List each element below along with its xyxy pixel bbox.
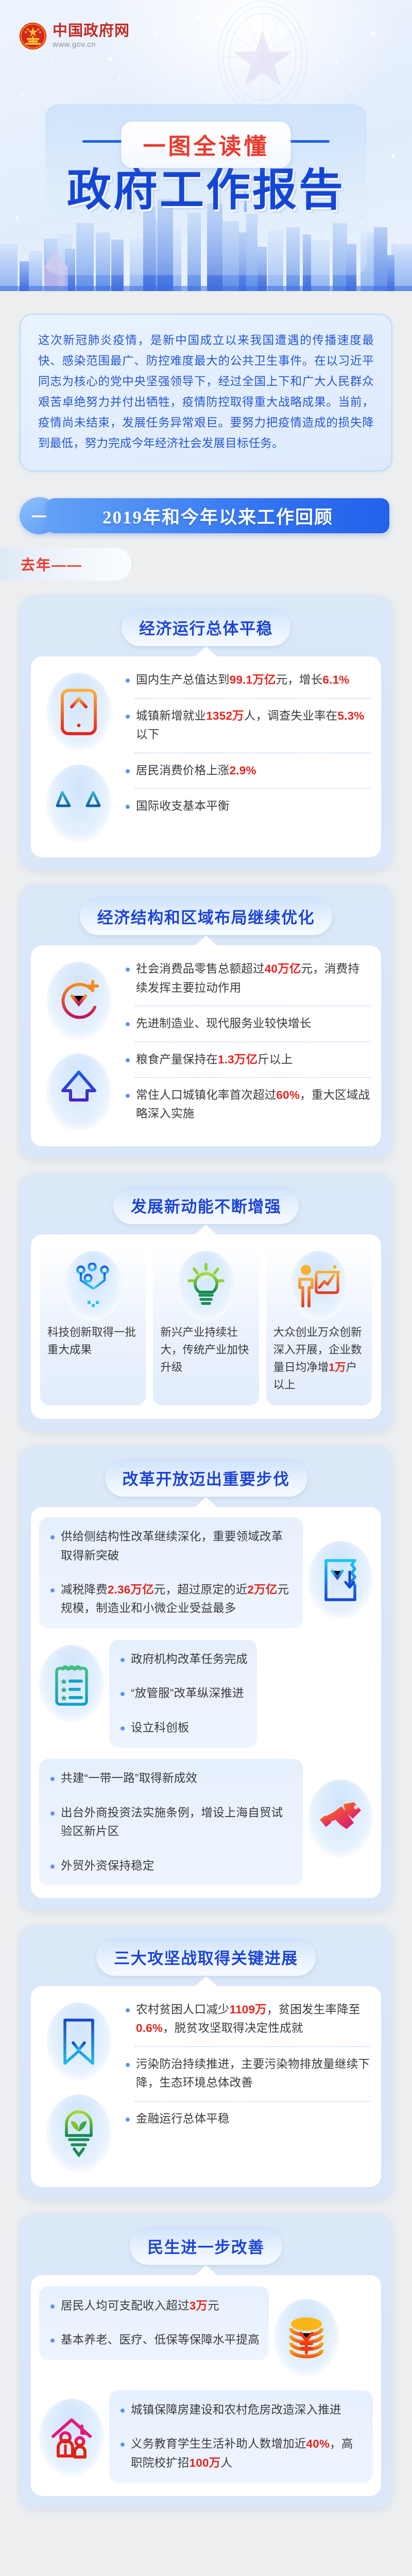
card-title-text: 经济运行总体平稳 [139,620,273,638]
card-notch [195,1225,217,1235]
bullet-highlight: 1109万 [230,2003,267,2016]
bullet-item: 国际收支基本平衡 [124,797,371,816]
card-title-text: 经济结构和区域布局继续优化 [97,909,315,927]
spacer [48,1788,294,1804]
year-tag: 去年—— [0,548,131,581]
bullet-text-post: ，脱贫攻坚取得决定性成就 [163,2022,303,2035]
site-logo[interactable]: 中国政府网 www.gov.cn [19,22,130,50]
bullet-text: 金融运行总体平稳 [136,2112,230,2125]
group-row: 共建“一带一路”取得新成效 出台外商投资法实施条例，增设上海自贸试验区新片区 外… [39,1759,373,1886]
bullet-item: 供给侧结构性改革继续深化，重要领域改革取得新突破 [48,1528,294,1565]
bullet-text-post: 人 [220,2456,232,2469]
bullet-item: 居民人均可支配收入超过3万元 [48,2297,260,2315]
divider [135,2046,371,2047]
bullet-text: “放管服”改革纵深推进 [131,1687,244,1700]
icon-column [41,1999,116,2173]
bullet-list: 共建“一带一路”取得新成效 出台外商投资法实施条例，增设上海自贸试验区新片区 外… [39,1759,303,1886]
national-emblem-icon [19,22,47,50]
card-economic-operation: 经济运行总体平稳 [20,595,392,870]
bullet-item: 粮食产量保持在1.3万亿斤以上 [124,1050,371,1069]
group-row: 居民人均可支配收入超过3万元 基本养老、医疗、低保等保障水平提高 [39,2286,339,2377]
card-economic-structure: 经济结构和区域布局继续优化 [20,884,392,1159]
card-notch [195,936,217,946]
coin-stack-icon [274,2299,339,2377]
bullet-highlight-2: 6.1% [322,673,349,686]
divider [135,1077,371,1078]
bullet-item: 国内生产总值达到99.1万亿元，增长6.1% [124,671,371,689]
bullet-text: 政府机构改革任务完成 [131,1653,248,1666]
bullet-list: 社会消费品零售总额超过40万亿元，消费持续发挥主要拉动作用 先进制造业、现代服务… [124,959,371,1124]
bullet-item: 社会消费品零售总额超过40万亿元，消费持续发挥主要拉动作用 [124,960,371,997]
invoice-yuan-icon [308,1541,373,1619]
bullet-item: 共建“一带一路”取得新成效 [48,1769,294,1788]
up-arrow-box-icon [46,673,111,751]
icon-column [41,959,116,1132]
column-text: 科技创新取得一批重大成果 [45,1324,141,1359]
divider [135,753,371,753]
divider [135,788,371,789]
group-row: 政府机构改革任务完成 “放管服”改革纵深推进 设立科创板 [39,1640,257,1748]
card-new-growth-drivers: 发展新动能不断增强 [20,1173,392,1431]
spacer [118,1703,248,1719]
card-three-battles: 三大攻坚战取得关键进展 [20,1925,392,2199]
bullet-text: 居民人均可支配收入超过 [61,2299,190,2312]
site-logo-url: www.gov.cn [53,41,130,48]
bullet-highlight: 1352万 [206,709,244,722]
bullet-item: 农村贫困人口减少1109万，贫困发生率降至0.6%，脱贫攻坚取得决定性成就 [124,2001,371,2038]
bullet-text: 先进制造业、现代服务业较快增长 [136,1017,312,1030]
bullet-text-mid: 元，增长 [276,673,323,686]
bullet-text: 外贸外资保持稳定 [61,1859,154,1872]
bullet-list: 国内生产总值达到99.1万亿元，增长6.1% 城镇新增就业1352万人，调查失业… [124,670,371,816]
group-row: 供给侧结构性改革继续深化，重要领域改革取得新突破 减税降费2.36万亿元，超过原… [39,1517,373,1629]
bullet-text-mid: ，贫困发生率降至 [267,2003,360,2016]
lightbulb-icon [177,1251,235,1321]
bullet-text-mid: 元 [208,2299,219,2312]
card-body: 社会消费品零售总额超过40万亿元，消费持续发挥主要拉动作用 先进制造业、现代服务… [31,945,381,1146]
card-notch [195,1497,217,1507]
bullet-highlight: 1.3万亿 [218,1053,257,1066]
bullet-text: 社会消费品零售总额超过 [136,962,265,975]
bullet-highlight: 60% [276,1089,300,1101]
column-text: 新兴产业持续壮大，传统产业加快升级 [158,1324,253,1377]
bullet-text-post: 以下 [136,728,159,741]
section-title: 2019年和今年以来工作回顾 [102,503,333,529]
card-body-columns: 科技创新取得一批重大成果 新兴产业持续壮大，传 [31,1234,381,1419]
card-title-pill: 经济结构和区域布局继续优化 [80,897,333,935]
card-title-pill: 改革开放迈出重要步伐 [105,1459,307,1497]
divider [135,698,371,699]
site-logo-name: 中国政府网 [53,24,130,39]
bullet-highlight: 99.1万亿 [230,673,276,686]
bullet-item: 出台外商投资法实施条例，增设上海自贸试验区新片区 [48,1804,294,1841]
bullet-text: 粮食产量保持在 [136,1053,218,1066]
bullet-text: 基本养老、医疗、低保等保障水平提高 [61,2333,260,2346]
column-item: 新兴产业持续壮大，传统产业加快升级 [153,1246,259,1405]
bullet-item: 居民消费价格上涨2.9% [124,761,371,780]
card-notch [195,1976,217,1987]
balance-scale-icon [46,765,111,843]
bullet-highlight: 40% [306,2437,330,2450]
bullet-item: 基本养老、医疗、低保等保障水平提高 [48,2331,260,2349]
checklist-icon [39,1645,104,1723]
bullet-highlight-2: 0.6% [136,2022,163,2035]
divider [135,1042,371,1042]
bullet-item: 先进制造业、现代服务业较快增长 [124,1014,371,1033]
bullet-highlight: 3万 [190,2299,208,2312]
spacer [48,2315,260,2331]
bullet-list: 供给侧结构性改革继续深化，重要领域改革取得新突破 减税降费2.36万亿元，超过原… [39,1517,303,1629]
bullet-text: 污染防治持续推进，主要污染物排放量继续下降，生态环境总体改善 [136,2058,370,2089]
column-item: 科技创新取得一批重大成果 [40,1246,146,1405]
intro-paragraph: 这次新冠肺炎疫情，是新中国成立以来我国遭遇的传播速度最快、感染范围最广、防控难度… [38,330,374,454]
green-leaf-icon [46,2094,111,2173]
bullet-text: 国际收支基本平衡 [136,800,230,812]
bullet-item: 义务教育学生生活补助人数增加近40%，高职院校扩招100万人 [118,2435,364,2472]
report-subtitle: 一图全读懂 [143,128,269,161]
card-reform-opening: 改革开放迈出重要步伐 供给侧结构性改革继续深化，重要领域改革取得新突破 减税降费… [20,1446,392,1910]
circuit-node-icon [64,1251,122,1321]
bullet-highlight: 2.36万亿 [108,1583,154,1596]
spacer [118,1669,248,1684]
bullet-item: 常住人口城镇化率首次超过60%，重大区域战略深入实施 [124,1086,371,1124]
card-body: 农村贫困人口减少1109万，贫困发生率降至0.6%，脱贫攻坚取得决定性成就 污染… [31,1986,381,2187]
bullet-highlight-2: 100万 [190,2456,221,2469]
section-title-bar: 2019年和今年以来工作回顾 [46,498,389,533]
hero-banner: 中国政府网 www.gov.cn 2020 政府工作报告 一图全读懂 [0,0,412,291]
bullet-text: 城镇新增就业 [136,709,206,722]
bullet-item: 城镇新增就业1352万人，调查失业率在5.3%以下 [124,707,371,744]
icon-column [41,670,116,843]
card-body: 居民人均可支配收入超过3万元 基本养老、医疗、低保等保障水平提高 [31,2275,381,2496]
card-title-text: 三大攻坚战取得关键进展 [114,1950,298,1968]
bullet-text: 减税降费 [61,1583,108,1596]
section-header: 一 2019年和今年以来工作回顾 [20,495,389,536]
bullet-text: 设立科创板 [131,1721,190,1734]
bullet-item: 城镇保障房建设和农村危房改造深入推进 [118,2401,364,2419]
down-arrow-banner-icon [46,2003,111,2081]
card-title-text: 发展新动能不断增强 [131,1198,282,1216]
bullet-text: 出台外商投资法实施条例，增设上海自贸试验区新片区 [61,1806,283,1838]
bullet-list: 城镇保障房建设和农村危房改造深入推进 义务教育学生生活补助人数增加近40%，高职… [109,2391,373,2483]
bullet-list: 农村贫困人口减少1109万，贫困发生率降至0.6%，脱贫攻坚取得决定性成就 污染… [124,1999,371,2128]
bullet-list: 居民人均可支配收入超过3万元 基本养老、医疗、低保等保障水平提高 [39,2286,269,2360]
bullet-item: 外贸外资保持稳定 [48,1857,294,1875]
subtitle-pill: 一图全读懂 [122,122,291,168]
card-notch [195,647,217,657]
bullet-text: 城镇保障房建设和农村危房改造深入推进 [131,2403,341,2416]
bullet-item: 设立科创板 [118,1719,248,1737]
card-title-pill: 经济运行总体平稳 [122,608,290,646]
card-title-pill: 发展新动能不断增强 [113,1187,299,1224]
handshake-icon [308,1780,373,1858]
divider [135,1006,371,1006]
person-chart-icon [290,1251,348,1321]
bullet-text: 农村贫困人口减少 [136,2003,230,2016]
bullet-list: 政府机构改革任务完成 “放管服”改革纵深推进 设立科创板 [109,1640,257,1748]
intro-section: 这次新冠肺炎疫情，是新中国成立以来我国遭遇的传播速度最快、感染范围最广、防控难度… [0,291,412,471]
bullet-highlight-2: 2万亿 [247,1583,277,1596]
card-title-pill: 民生进一步改善 [130,2227,282,2265]
spacer [48,1565,294,1581]
bullet-highlight: 2.9% [230,764,256,777]
year-tag-label: 去年—— [21,554,82,574]
card-livelihood: 民生进一步改善 居民人均可支配收入超过3万元 基本养老、医疗、低保等保障水平提高 [20,2214,392,2509]
card-title-text: 改革开放迈出重要步伐 [123,1470,290,1488]
card-body: 供给侧结构性改革继续深化，重要领域改革取得新突破 减税降费2.36万亿元，超过原… [31,1507,381,1898]
up-arrow-lines-icon [46,1054,111,1132]
house-family-icon [39,2399,104,2477]
bullet-text-mid: 人，调查失业率在 [244,709,338,722]
card-notch [195,2265,217,2276]
bullet-text-mid: 斤以上 [257,1053,293,1066]
bullet-item: 减税降费2.36万亿元，超过原定的近2万亿元规模，制造业和小微企业受益最多 [48,1581,294,1618]
bullet-text-mid: 元，超过原定的近 [154,1583,248,1596]
bullet-item: “放管服”改革纵深推进 [118,1684,248,1703]
bullet-text: 国内生产总值达到 [136,673,230,686]
bullet-item: 金融运行总体平稳 [124,2110,371,2128]
national-emblem-watermark [207,1,318,120]
card-title-pill: 三大攻坚战取得关键进展 [96,1938,316,1976]
spacer [118,2419,364,2435]
column-text: 大众创业万众创新深入开展，企业数量日均净增1万户以上 [271,1324,367,1394]
divider [135,2101,371,2102]
yuan-plus-icon [46,962,111,1040]
intro-card: 这次新冠肺炎疫情，是新中国成立以来我国遭遇的传播速度最快、感染范围最广、防控难度… [20,314,392,471]
bullet-item: 政府机构改革任务完成 [118,1650,248,1669]
bullet-highlight: 40万亿 [265,962,301,975]
bullet-text: 供给侧结构性改革继续深化，重要领域改革取得新突破 [61,1530,283,1562]
bullet-highlight-2: 5.3% [337,709,364,722]
column-item: 大众创业万众创新深入开展，企业数量日均净增1万户以上 [266,1246,372,1405]
spacer [48,1841,294,1857]
card-body: 国内生产总值达到99.1万亿元，增长6.1% 城镇新增就业1352万人，调查失业… [31,656,381,857]
bullet-text: 义务教育学生生活补助人数增加近 [131,2437,306,2450]
group-row: 城镇保障房建设和农村危房改造深入推进 义务教育学生生活补助人数增加近40%，高职… [39,2391,373,2483]
bullet-item: 污染防治持续推进，主要污染物排放量继续下降，生态环境总体改善 [124,2055,371,2093]
bullet-text: 共建“一带一路”取得新成效 [61,1772,197,1785]
bullet-text: 常住人口城镇化率首次超过 [136,1089,276,1101]
bullet-text: 居民消费价格上涨 [136,764,230,777]
card-title-text: 民生进一步改善 [147,2239,265,2257]
